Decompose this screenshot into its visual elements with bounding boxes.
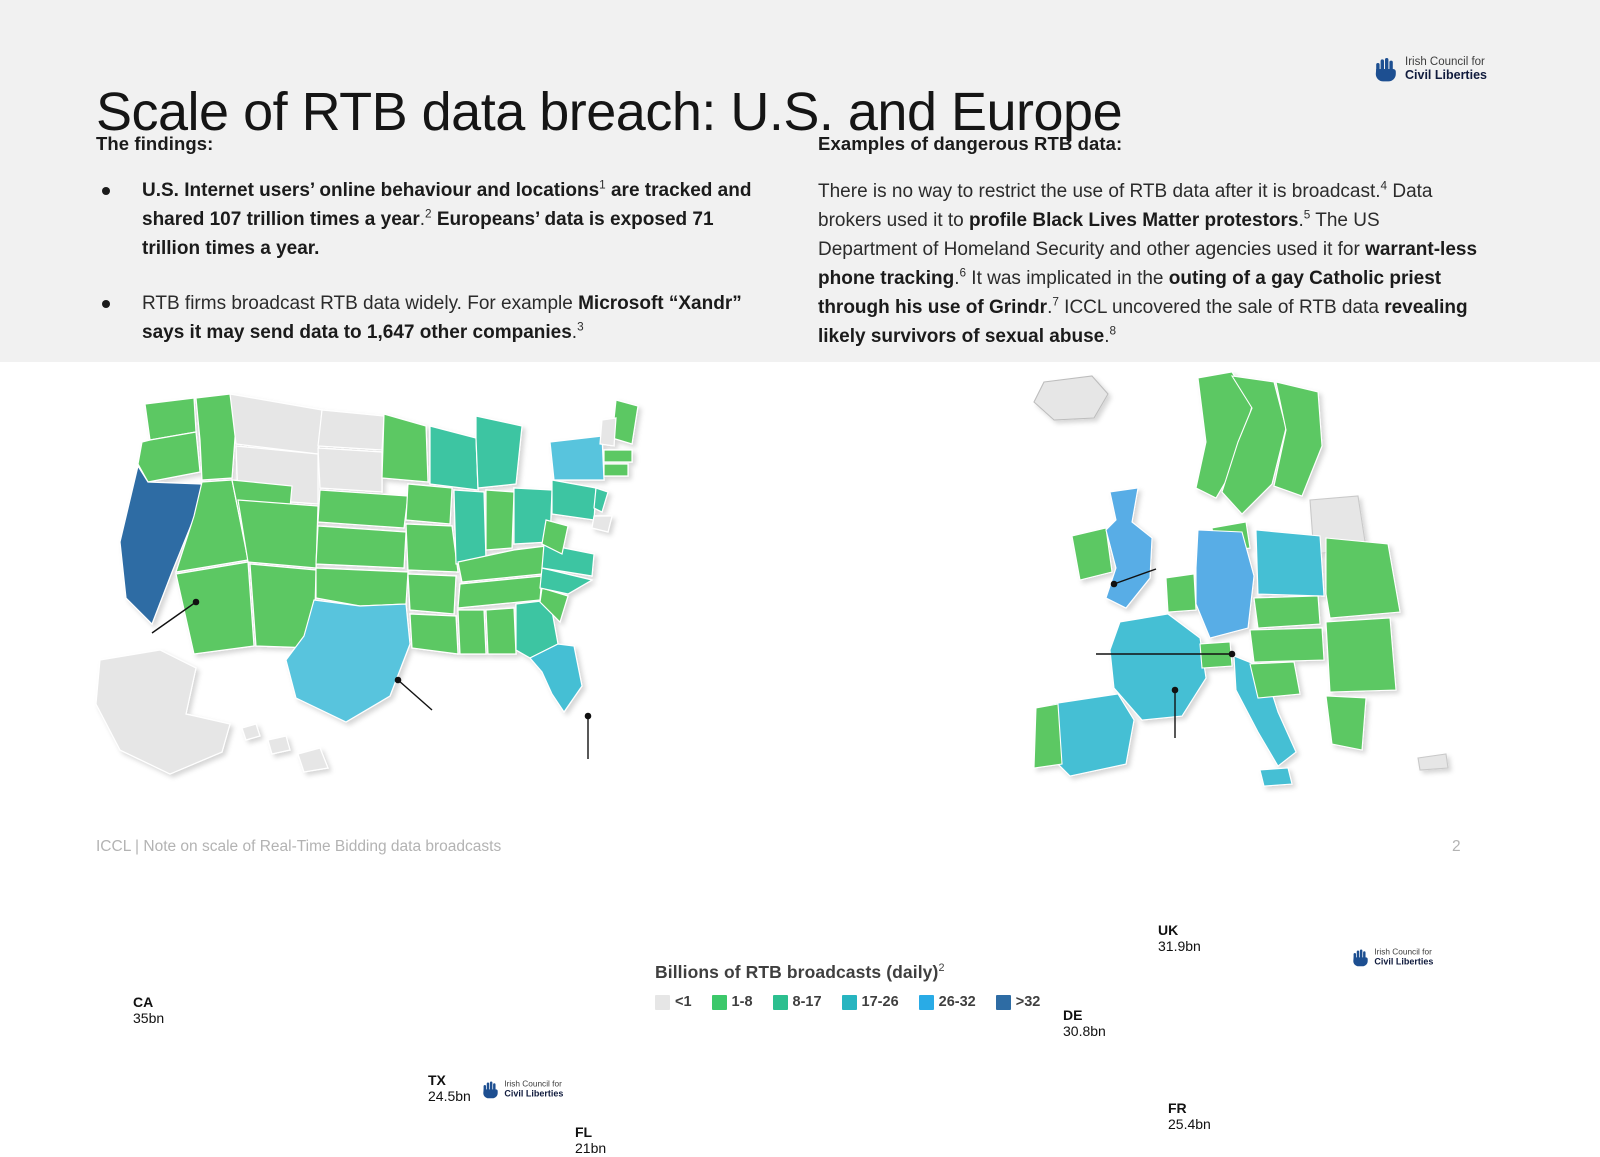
callout-fr: FR 25.4bn — [1168, 1100, 1211, 1133]
state-ak — [96, 650, 230, 774]
state-id — [196, 394, 236, 480]
callout-code: DE — [1063, 1007, 1106, 1023]
state-nj — [594, 488, 608, 512]
state-in — [486, 490, 514, 550]
legend-label: 26-32 — [939, 994, 976, 1010]
legend-item[interactable]: 1-8 — [712, 994, 753, 1010]
bullet-dot-icon — [102, 300, 110, 308]
legend-swatch — [842, 995, 857, 1010]
country-pt — [1034, 704, 1062, 768]
state-or — [138, 432, 200, 482]
state-mt — [230, 394, 322, 454]
callout-uk: UK 31.9bn — [1158, 922, 1201, 955]
legend-item[interactable]: 17-26 — [842, 994, 899, 1010]
legend-item[interactable]: 8-17 — [773, 994, 822, 1010]
callout-value: 24.5bn — [428, 1088, 471, 1105]
legend-label: >32 — [1016, 994, 1041, 1010]
callout-ca: CA 35bn — [133, 994, 164, 1027]
legend-item[interactable]: 26-32 — [919, 994, 976, 1010]
state-az — [176, 562, 254, 654]
state-hi-3 — [298, 748, 328, 772]
country-cy — [1418, 754, 1448, 770]
callout-fl: FL 21bn — [575, 1124, 606, 1157]
hand-icon — [1374, 56, 1398, 82]
state-ct-ri — [604, 464, 628, 476]
state-ma — [604, 450, 632, 462]
slide: Scale of RTB data breach: U.S. and Europ… — [0, 0, 1600, 900]
findings-list: U.S. Internet users’ online behaviour an… — [96, 177, 756, 347]
left-column: The findings: U.S. Internet users’ onlin… — [96, 133, 756, 373]
footer-note: ICCL | Note on scale of Real-Time Biddin… — [96, 838, 501, 856]
hand-icon — [482, 1080, 499, 1099]
country-ie — [1072, 528, 1112, 580]
legend-swatch — [773, 995, 788, 1010]
callout-code: CA — [133, 994, 164, 1010]
callout-value: 30.8bn — [1063, 1023, 1106, 1040]
europe-choropleth-map — [1010, 372, 1460, 802]
list-item: RTB firms broadcast RTB data widely. For… — [96, 290, 756, 348]
hand-icon — [1352, 948, 1369, 967]
right-column-heading: Examples of dangerous RTB data: — [818, 133, 1478, 155]
iccl-logo-europe-map: Irish Council for Civil Liberties — [1352, 948, 1433, 967]
legend-swatch — [712, 995, 727, 1010]
callout-value: 35bn — [133, 1010, 164, 1027]
legend-swatch — [996, 995, 1011, 1010]
state-al — [486, 608, 516, 654]
legend-label: 1-8 — [732, 994, 753, 1010]
legend-swatch — [655, 995, 670, 1010]
state-co — [238, 500, 318, 568]
country-si-hr — [1250, 662, 1300, 698]
right-column: Examples of dangerous RTB data: There is… — [818, 133, 1478, 351]
callout-code: FR — [1168, 1100, 1211, 1116]
country-pl — [1256, 530, 1324, 596]
legend-title: Billions of RTB broadcasts (daily)2 — [655, 962, 1051, 983]
country-de — [1196, 530, 1254, 638]
state-vt-nh — [600, 418, 616, 446]
state-md-de — [592, 516, 612, 532]
callout-de: DE 30.8bn — [1063, 1007, 1106, 1040]
state-mn — [382, 414, 428, 482]
logo-line-2: Civil Liberties — [504, 1089, 563, 1099]
country-ch — [1200, 642, 1232, 668]
callout-tx: TX 24.5bn — [428, 1072, 471, 1105]
maps-area: Billions of RTB broadcasts (daily)2 <1 1… — [0, 362, 1600, 832]
state-mi — [476, 416, 522, 488]
logo-line-2: Civil Liberties — [1405, 68, 1487, 82]
state-ms — [458, 610, 486, 654]
page-number: 2 — [1452, 838, 1461, 856]
legend-label: 8-17 — [793, 994, 822, 1010]
state-mo — [406, 524, 458, 572]
legend-label: 17-26 — [862, 994, 899, 1010]
legend-items: <1 1-8 8-17 17-26 26-32 — [655, 994, 1051, 1010]
state-pa — [552, 480, 596, 520]
callout-value: 31.9bn — [1158, 938, 1201, 955]
country-by-ua — [1326, 538, 1400, 618]
legend-title-superscript: 2 — [938, 962, 944, 974]
callout-code: FL — [575, 1124, 606, 1140]
legend-swatch — [919, 995, 934, 1010]
callout-value: 25.4bn — [1168, 1116, 1211, 1133]
legend-item[interactable]: <1 — [655, 994, 692, 1010]
list-item: U.S. Internet users’ online behaviour an… — [96, 177, 756, 264]
iccl-logo-header: Irish Council for Civil Liberties — [1374, 56, 1487, 82]
callout-value: 21bn — [575, 1140, 606, 1157]
state-ne — [318, 490, 408, 528]
state-wi — [430, 426, 478, 490]
callout-code: TX — [428, 1072, 471, 1088]
country-ro-bg — [1326, 618, 1396, 692]
state-la — [410, 614, 458, 654]
callout-code: UK — [1158, 922, 1201, 938]
country-nl-be — [1166, 574, 1196, 612]
country-at-hu — [1250, 628, 1324, 662]
state-il — [454, 490, 486, 564]
country-is — [1034, 376, 1108, 420]
finding-text: U.S. Internet users’ online behaviour an… — [142, 180, 751, 259]
state-sd — [318, 448, 382, 492]
bullet-dot-icon — [102, 187, 110, 195]
iccl-logo-us-map: Irish Council for Civil Liberties — [482, 1080, 563, 1099]
legend-item[interactable]: >32 — [996, 994, 1041, 1010]
state-ia — [406, 484, 452, 524]
us-choropleth-map — [90, 392, 670, 792]
state-hi — [242, 724, 260, 740]
state-ar — [408, 574, 456, 614]
map-legend: Billions of RTB broadcasts (daily)2 <1 1… — [655, 962, 1051, 1010]
examples-paragraph: There is no way to restrict the use of R… — [818, 177, 1478, 351]
country-gr — [1326, 696, 1366, 750]
legend-title-text: Billions of RTB broadcasts (daily) — [655, 962, 938, 982]
country-cz-sk — [1254, 596, 1320, 628]
state-ks — [316, 526, 406, 568]
state-ny — [550, 436, 604, 480]
logo-line-2: Civil Liberties — [1374, 957, 1433, 967]
finding-text: RTB firms broadcast RTB data widely. For… — [142, 293, 742, 343]
left-column-heading: The findings: — [96, 133, 756, 155]
country-it-sicily — [1260, 768, 1292, 786]
state-fl — [530, 644, 582, 712]
state-hi-2 — [268, 736, 290, 754]
state-nd — [318, 410, 384, 450]
legend-label: <1 — [675, 994, 692, 1010]
state-ok — [316, 568, 408, 606]
country-uk — [1106, 488, 1152, 608]
